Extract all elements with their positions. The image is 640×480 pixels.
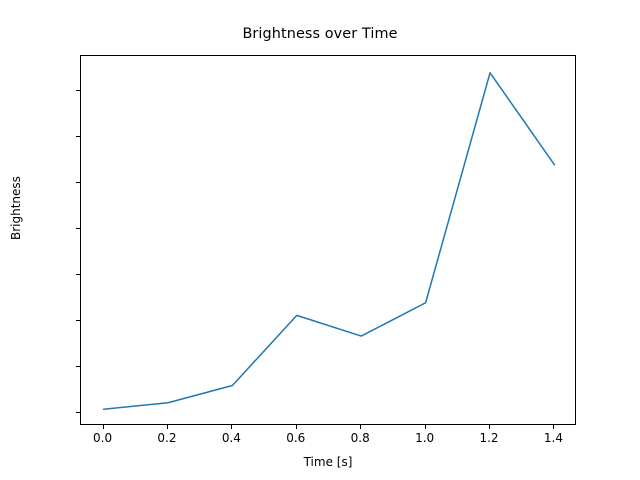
plot-area	[81, 56, 575, 424]
x-tick-mark	[360, 425, 361, 429]
chart-title: Brightness over Time	[0, 26, 640, 42]
x-tick-mark	[103, 425, 104, 429]
x-tick-label: 1.4	[533, 432, 573, 444]
x-tick-mark	[425, 425, 426, 429]
x-tick-label: 1.0	[405, 432, 445, 444]
y-axis-label: Brightness	[9, 176, 23, 240]
brightness-line-series	[81, 56, 575, 424]
x-tick-mark	[489, 425, 490, 429]
figure-canvas: Brightness over Time Brightness Time [s]…	[0, 0, 640, 480]
data-polyline	[104, 73, 555, 409]
x-tick-mark	[231, 425, 232, 429]
x-tick-label: 1.2	[469, 432, 509, 444]
x-tick-mark	[553, 425, 554, 429]
x-tick-mark	[167, 425, 168, 429]
x-tick-label: 0.2	[147, 432, 187, 444]
x-tick-label: 0.0	[83, 432, 123, 444]
x-tick-label: 0.6	[276, 432, 316, 444]
x-tick-mark	[296, 425, 297, 429]
x-axis-label: Time [s]	[80, 455, 576, 469]
axes-frame	[80, 55, 576, 425]
x-tick-label: 0.4	[211, 432, 251, 444]
x-tick-label: 0.8	[340, 432, 380, 444]
